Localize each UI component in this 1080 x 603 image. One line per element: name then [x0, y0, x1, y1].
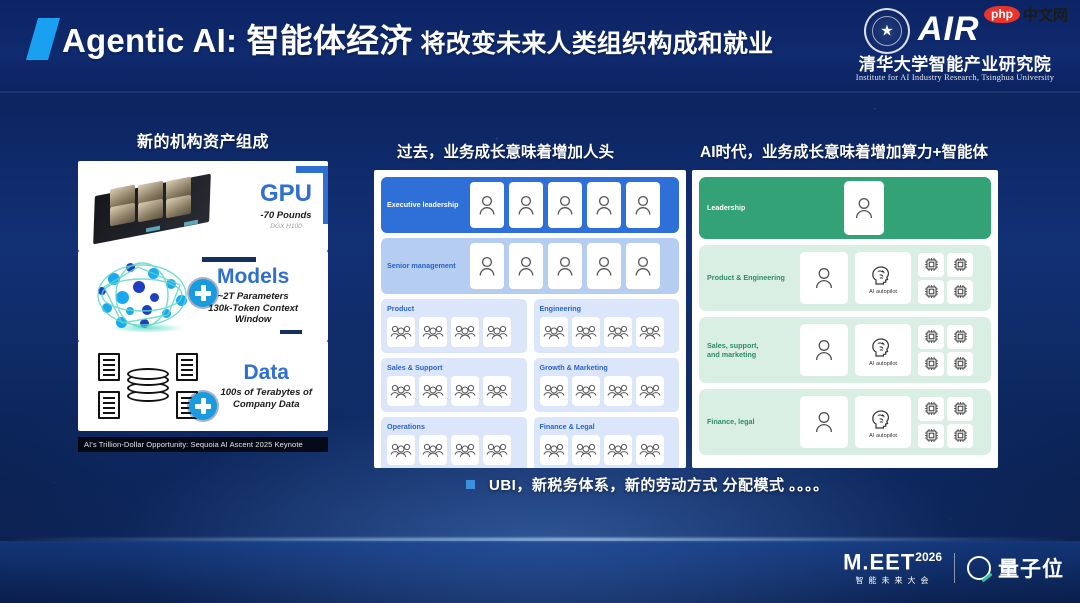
assets-column: 新的机构资产组成 GPU -70 Pounds DGX H100	[78, 128, 328, 452]
chip-icon	[918, 253, 944, 277]
people-group-icon	[604, 435, 632, 465]
chip-icon	[947, 280, 973, 304]
source-caption: AI's Trillion-Dollar Opportunity: Sequoi…	[78, 437, 328, 452]
ai-row-sales-support-marketing: Sales, support, and marketing AI autopil…	[699, 317, 991, 383]
asset-data-title: Data	[220, 362, 312, 383]
neural-network-icon	[92, 257, 194, 335]
footer-divider	[954, 553, 955, 583]
people-group-icon	[451, 317, 479, 347]
chip-icon	[918, 280, 944, 304]
department-label: Product	[387, 304, 521, 313]
title-sub-text: 将改变未来人类组织构成和就业	[421, 30, 774, 58]
horizon-glow-decoration	[0, 538, 1080, 541]
person-icon	[626, 182, 660, 228]
people-group-icon	[636, 317, 664, 347]
chip-icon	[947, 253, 973, 277]
person-icon	[470, 243, 504, 289]
ai-org-card: Leadership Product & Engineering AI auto…	[692, 170, 998, 468]
ai-row-leadership: Leadership	[699, 177, 991, 239]
department-operations: Operations	[381, 417, 527, 468]
people-group-icon	[604, 317, 632, 347]
gpu-board-icon	[88, 169, 216, 243]
air-institute-en: Institute for AI Industry Research, Tsin…	[842, 72, 1068, 82]
database-documents-icon	[94, 349, 202, 423]
person-icon	[587, 243, 621, 289]
org-row-executive-leadership: Executive leadership	[381, 177, 679, 233]
people-group-icon	[572, 376, 600, 406]
people-group-icon	[540, 435, 568, 465]
past-panel-heading: 过去，业务成长意味着增加人头	[397, 140, 614, 162]
people-group-icon	[540, 317, 568, 347]
meet-subtitle: 智能未来大会	[847, 577, 942, 585]
department-finance-legal: Finance & Legal	[534, 417, 680, 468]
person-icon	[800, 324, 848, 376]
slide-root: Agentic AI: 智能体经济将改变未来人类组织构成和就业 ★ AIR 清华…	[0, 0, 1080, 603]
chip-icon	[947, 397, 973, 421]
past-org-card: Executive leadership Senior management P…	[374, 170, 686, 468]
page-title: Agentic AI: 智能体经济将改变未来人类组织构成和就业	[62, 14, 773, 62]
chip-icon	[918, 325, 944, 349]
ai-row-label: Sales, support, and marketing	[707, 341, 793, 360]
asset-card-gpu: GPU -70 Pounds DGX H100	[78, 161, 328, 251]
person-icon	[587, 182, 621, 228]
site-watermark: php 中文网	[984, 4, 1068, 25]
plus-icon	[189, 279, 217, 307]
people-group-icon	[604, 376, 632, 406]
bullet-line: UBI，新税务体系，新的劳动方式 分配模式 。。。。	[466, 474, 829, 495]
ai-autopilot-caption: AI autopilot	[869, 289, 897, 295]
people-group-icon	[419, 435, 447, 465]
person-icon	[626, 243, 660, 289]
qbit-circle-icon	[967, 556, 991, 580]
person-icon	[509, 243, 543, 289]
ai-row-product-engineering: Product & Engineering AI autopilot	[699, 245, 991, 311]
plus-icon	[189, 392, 217, 420]
asset-gpu-text: GPU -70 Pounds DGX H100	[260, 182, 318, 231]
ai-autopilot-icon: AI autopilot	[855, 324, 911, 376]
department-growth-marketing: Growth & Marketing	[534, 358, 680, 412]
bullet-square-icon	[466, 480, 475, 489]
asset-data-sub: 100s of Terabytes of Company Data	[220, 387, 312, 411]
models-bar-bottom-decoration	[280, 330, 302, 334]
person-icon	[548, 182, 582, 228]
department-label: Engineering	[540, 304, 674, 313]
header-divider	[0, 91, 1080, 93]
person-icon	[470, 182, 504, 228]
department-label: Finance & Legal	[540, 422, 674, 431]
person-icon	[800, 396, 848, 448]
org-row-label: Executive leadership	[387, 201, 465, 210]
chip-icon	[918, 397, 944, 421]
compute-chip-grid	[918, 397, 973, 448]
ai-row-finance-legal: Finance, legal AI autopilot	[699, 389, 991, 455]
department-grid: Product Engineering Sales & Supp	[381, 299, 679, 468]
ai-row-label: Leadership	[707, 203, 793, 212]
person-icon	[548, 243, 582, 289]
gpu-bracket-decoration	[296, 166, 328, 224]
department-sales-support: Sales & Support	[381, 358, 527, 412]
ai-autopilot-icon: AI autopilot	[855, 252, 911, 304]
people-group-icon	[387, 435, 415, 465]
asset-data-text: Data 100s of Terabytes of Company Data	[220, 362, 318, 411]
people-group-icon	[483, 317, 511, 347]
title-accent-bar-icon	[26, 18, 60, 60]
meet-year: 2026	[915, 550, 942, 564]
department-label: Operations	[387, 422, 521, 431]
department-label: Growth & Marketing	[540, 363, 674, 372]
people-group-icon	[483, 376, 511, 406]
people-group-icon	[387, 376, 415, 406]
person-icon	[509, 182, 543, 228]
people-group-icon	[636, 376, 664, 406]
compute-chip-grid	[918, 325, 973, 376]
chip-icon	[918, 424, 944, 448]
people-group-icon	[483, 435, 511, 465]
department-product: Product	[381, 299, 527, 353]
ai-autopilot-caption: AI autopilot	[869, 433, 897, 439]
chip-icon	[947, 424, 973, 448]
tsinghua-seal-icon: ★	[864, 8, 910, 54]
people-group-icon	[572, 317, 600, 347]
assets-column-heading: 新的机构资产组成	[78, 128, 328, 152]
people-group-icon	[572, 435, 600, 465]
people-group-icon	[419, 317, 447, 347]
ai-row-label: Finance, legal	[707, 417, 793, 426]
ai-panel-heading: AI时代，业务成长意味着增加算力+智能体	[700, 140, 988, 162]
ai-autopilot-icon: AI autopilot	[855, 396, 911, 448]
models-bar-top-decoration	[202, 257, 256, 262]
person-icon	[844, 181, 884, 235]
people-group-icon	[451, 435, 479, 465]
watermark-text: 中文网	[1023, 4, 1068, 25]
meet-logo: M.EET2026 智能未来大会	[843, 551, 942, 585]
people-group-icon	[419, 376, 447, 406]
asset-gpu-model: DGX H100	[260, 223, 312, 230]
chip-icon	[947, 325, 973, 349]
people-group-icon	[540, 376, 568, 406]
title-main-text: Agentic AI: 智能体经济	[62, 22, 413, 59]
qbitai-logo: 量子位	[967, 553, 1064, 583]
people-group-icon	[451, 376, 479, 406]
neural-edges	[92, 257, 204, 335]
org-row-senior-management: Senior management	[381, 238, 679, 294]
people-group-icon	[387, 317, 415, 347]
qbit-brand-text: 量子位	[998, 553, 1064, 583]
bullet-text: UBI，新税务体系，新的劳动方式 分配模式 。。。。	[489, 474, 829, 495]
footer-branding: M.EET2026 智能未来大会 量子位	[843, 551, 1064, 585]
chip-icon	[947, 352, 973, 376]
watermark-badge: php	[984, 6, 1020, 24]
database-cylinder-icon	[127, 368, 169, 404]
meet-name: M.EET	[843, 549, 915, 574]
person-icon	[800, 252, 848, 304]
seal-star-glyph: ★	[880, 24, 893, 39]
chip-icon	[918, 352, 944, 376]
department-label: Sales & Support	[387, 363, 521, 372]
ai-row-label: Product & Engineering	[707, 273, 793, 282]
air-wordmark: AIR	[918, 10, 980, 49]
ai-autopilot-caption: AI autopilot	[869, 361, 897, 367]
department-engineering: Engineering	[534, 299, 680, 353]
slide-header: Agentic AI: 智能体经济将改变未来人类组织构成和就业 ★ AIR 清华…	[0, 0, 1080, 92]
people-group-icon	[636, 435, 664, 465]
org-row-label: Senior management	[387, 262, 465, 271]
compute-chip-grid	[918, 253, 973, 304]
